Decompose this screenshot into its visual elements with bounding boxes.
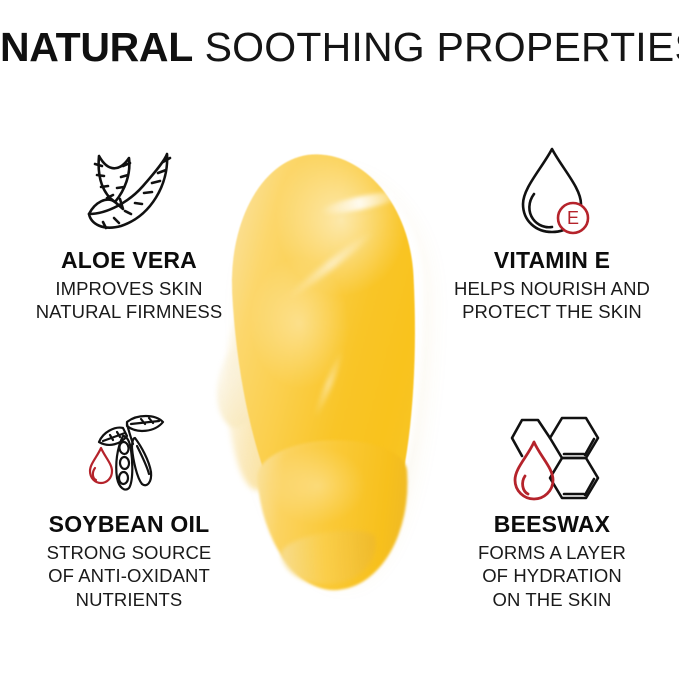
feature-vitamin-e: E VITAMIN E HELPS NOURISH AND PROTECT TH… [437,140,667,324]
infographic-canvas: NATURAL SOOTHING PROPERTIES [0,0,679,679]
feature-title-soybean-oil: SOYBEAN OIL [14,512,244,538]
soybean-oil-droplet [90,448,112,483]
feature-desc-vitamin-e: HELPS NOURISH AND PROTECT THE SKIN [437,277,667,324]
vitamin-e-icon-box: E [437,140,667,244]
feature-beeswax: BEESWAX FORMS A LAYER OF HYDRATION ON TH… [437,404,667,611]
page-title-light: SOOTHING PROPERTIES [193,24,679,70]
swatch-gloss-highlight-2 [285,227,377,302]
feature-aloe-vera: ALOE VERA IMPROVES SKIN NATURAL FIRMNESS [14,140,244,324]
balm-swatch-image [212,140,467,590]
feature-desc-beeswax: FORMS A LAYER OF HYDRATION ON THE SKIN [437,541,667,611]
swatch-main-body [225,150,429,579]
vitamin-e-droplet-icon: E [507,142,597,242]
aloe-vera-icon-box [14,140,244,244]
swatch-shadow [248,170,424,568]
swatch-bottom-tail [255,435,415,595]
feature-title-aloe-vera: ALOE VERA [14,248,244,274]
page-title-bold: NATURAL [0,24,193,70]
feature-soybean-oil: SOYBEAN OIL STRONG SOURCE OF ANTI-OXIDAN… [14,404,244,611]
swatch-layers [212,140,467,590]
swatch-gloss-highlight-3 [312,348,346,419]
feature-title-beeswax: BEESWAX [437,512,667,538]
soybean-pod-icon [79,406,179,506]
feature-desc-soybean-oil: STRONG SOURCE OF ANTI-OXIDANT NUTRIENTS [14,541,244,611]
beeswax-droplet [515,442,553,499]
beeswax-icon-box [437,404,667,508]
page-title: NATURAL SOOTHING PROPERTIES [0,24,679,71]
feature-title-vitamin-e: VITAMIN E [437,248,667,274]
soybean-oil-icon-box [14,404,244,508]
swatch-top-lobe [243,140,430,347]
aloe-vera-leaf-icon [77,144,181,240]
feature-desc-aloe-vera: IMPROVES SKIN NATURAL FIRMNESS [14,277,244,324]
honeycomb-hexagon-icon [500,406,604,506]
swatch-gloss-highlight-1 [320,187,407,218]
swatch-bottom-flick [279,525,382,591]
vitamin-e-badge-letter: E [567,208,579,228]
